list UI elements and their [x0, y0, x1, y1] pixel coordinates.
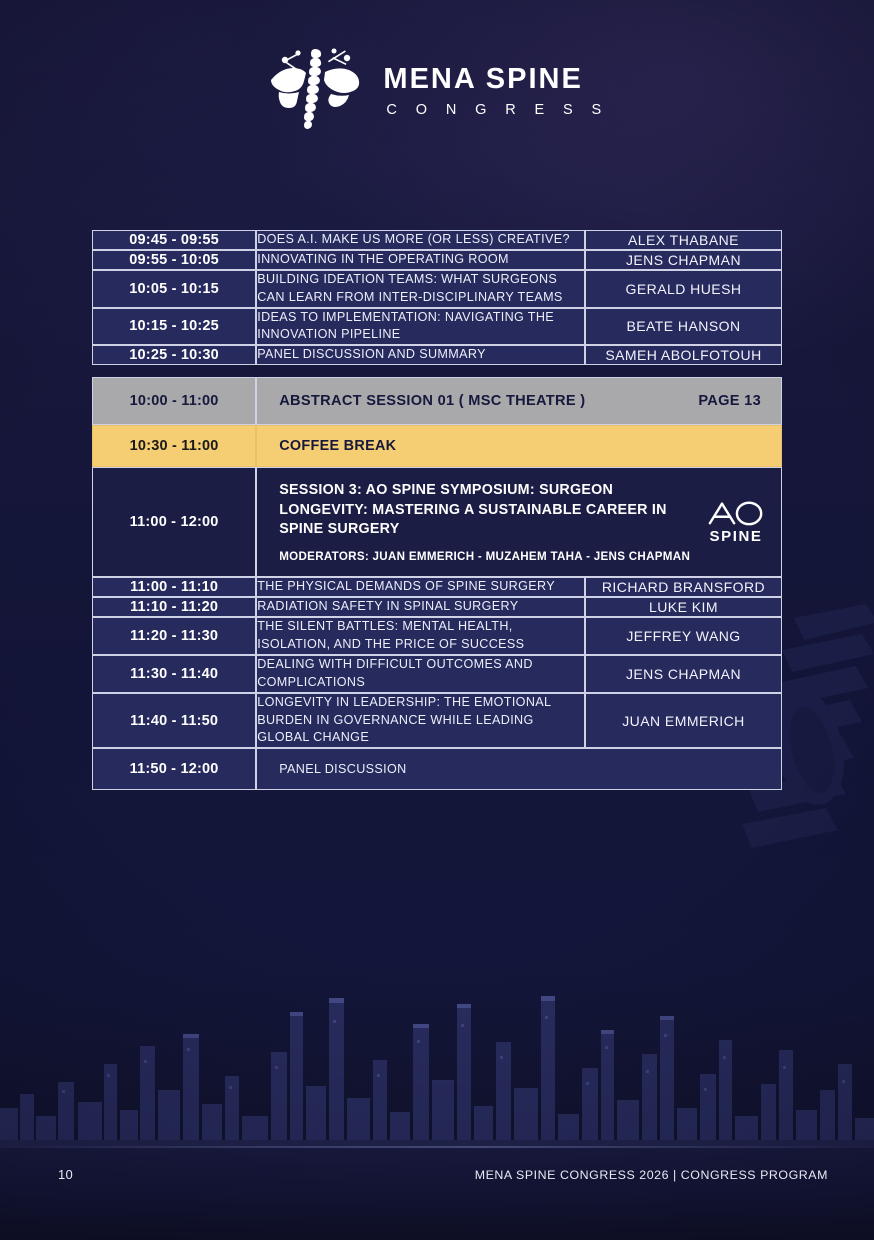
session-header-cell: SESSION 3: AO SPINE SYMPOSIUM: SURGEON L…	[256, 467, 782, 577]
row-speaker: GERALD HUESH	[585, 270, 782, 308]
abstract-session-page-ref[interactable]: PAGE 13	[698, 393, 761, 409]
row-topic: LONGEVITY IN LEADERSHIP: THE EMOTIONAL B…	[256, 693, 585, 749]
row-speaker: JUAN EMMERICH	[585, 693, 782, 749]
table-row[interactable]: 10:15 - 10:25 IDEAS TO IMPLEMENTATION: N…	[92, 308, 782, 346]
row-time: 09:45 - 09:55	[92, 230, 256, 250]
session-moderators: MODERATORS: JUAN EMMERICH - MUZAHEM TAHA…	[279, 550, 693, 563]
table-row[interactable]: 11:10 - 11:20 RADIATION SAFETY IN SPINAL…	[92, 597, 782, 617]
abstract-session-cell: ABSTRACT SESSION 01 ( MSC THEATRE ) PAGE…	[256, 377, 782, 425]
row-topic: DEALING WITH DIFFICULT OUTCOMES AND COMP…	[256, 655, 585, 693]
row-time: 10:30 - 11:00	[92, 425, 256, 467]
row-time: 11:00 - 11:10	[92, 577, 256, 597]
row-topic: INNOVATING IN THE OPERATING ROOM	[256, 250, 585, 270]
row-time: 11:30 - 11:40	[92, 655, 256, 693]
session-title: SESSION 3: AO SPINE SYMPOSIUM: SURGEON L…	[279, 481, 693, 539]
row-speaker: RICHARD BRANSFORD	[585, 577, 782, 597]
page-number: 10	[58, 1167, 73, 1182]
row-topic: THE SILENT BATTLES: MENTAL HEALTH, ISOLA…	[256, 617, 585, 655]
coffee-break-title: COFFEE BREAK	[257, 426, 781, 466]
logo-subtitle: C O N G R E S S	[386, 103, 608, 118]
table-row[interactable]: 11:50 - 12:00 PANEL DISCUSSION	[92, 748, 782, 790]
row-time: 10:15 - 10:25	[92, 308, 256, 346]
table-row[interactable]: 11:00 - 11:10 THE PHYSICAL DEMANDS OF SP…	[92, 577, 782, 597]
table-row[interactable]: 11:20 - 11:30 THE SILENT BATTLES: MENTAL…	[92, 617, 782, 655]
schedule-body: 09:45 - 09:55 DOES A.I. MAKE US MORE (OR…	[92, 230, 782, 790]
row-topic: THE PHYSICAL DEMANDS OF SPINE SURGERY	[256, 577, 585, 597]
row-speaker: SAMEH ABOLFOTOUH	[585, 345, 782, 365]
session-header-row[interactable]: 11:00 - 12:00 SESSION 3: AO SPINE SYMPOS…	[92, 467, 782, 577]
table-row[interactable]: 10:25 - 10:30 PANEL DISCUSSION AND SUMMA…	[92, 345, 782, 365]
table-row[interactable]: 10:05 - 10:15 BUILDING IDEATION TEAMS: W…	[92, 270, 782, 308]
row-topic: PANEL DISCUSSION	[257, 749, 781, 789]
table-row[interactable]: 11:40 - 11:50 LONGEVITY IN LEADERSHIP: T…	[92, 693, 782, 749]
row-time: 10:00 - 11:00	[92, 377, 256, 425]
row-speaker: ALEX THABANE	[585, 230, 782, 250]
row-speaker: JEFFREY WANG	[585, 617, 782, 655]
row-time: 10:25 - 10:30	[92, 345, 256, 365]
ao-spine-wordmark: SPINE	[703, 528, 769, 545]
logo-title: MENA SPINE	[383, 65, 608, 94]
row-topic: PANEL DISCUSSION AND SUMMARY	[256, 345, 585, 365]
row-speaker: JENS CHAPMAN	[585, 655, 782, 693]
footer-note: MENA SPINE CONGRESS 2026 | CONGRESS PROG…	[475, 1168, 828, 1182]
row-time: 11:40 - 11:50	[92, 693, 256, 749]
abstract-session-title: ABSTRACT SESSION 01 ( MSC THEATRE )	[279, 393, 585, 409]
abstract-session-row[interactable]: 10:00 - 11:00 ABSTRACT SESSION 01 ( MSC …	[92, 377, 782, 425]
row-time: 11:20 - 11:30	[92, 617, 256, 655]
row-time: 09:55 - 10:05	[92, 250, 256, 270]
table-spacer-row	[92, 365, 782, 377]
congress-logo: MENA SPINE C O N G R E S S	[0, 46, 874, 132]
table-row[interactable]: 11:30 - 11:40 DEALING WITH DIFFICULT OUT…	[92, 655, 782, 693]
schedule-table: 09:45 - 09:55 DOES A.I. MAKE US MORE (OR…	[92, 230, 782, 790]
table-gap	[92, 365, 782, 377]
mena-spine-map-icon	[265, 46, 369, 132]
coffee-break-row[interactable]: 10:30 - 11:00 COFFEE BREAK	[92, 425, 782, 467]
row-topic: IDEAS TO IMPLEMENTATION: NAVIGATING THE …	[256, 308, 585, 346]
row-time: 10:05 - 10:15	[92, 270, 256, 308]
page-footer: 10 MENA SPINE CONGRESS 2026 | CONGRESS P…	[58, 1167, 828, 1182]
table-row[interactable]: 09:55 - 10:05 INNOVATING IN THE OPERATIN…	[92, 250, 782, 270]
row-speaker: JENS CHAPMAN	[585, 250, 782, 270]
coffee-break-cell: COFFEE BREAK	[256, 425, 782, 467]
table-row[interactable]: 09:45 - 09:55 DOES A.I. MAKE US MORE (OR…	[92, 230, 782, 250]
row-time: 11:00 - 12:00	[92, 467, 256, 577]
row-speaker: BEATE HANSON	[585, 308, 782, 346]
row-topic: BUILDING IDEATION TEAMS: WHAT SURGEONS C…	[256, 270, 585, 308]
row-topic: RADIATION SAFETY IN SPINAL SURGERY	[256, 597, 585, 617]
row-time: 11:50 - 12:00	[92, 748, 256, 790]
panel-discussion-cell: PANEL DISCUSSION	[256, 748, 782, 790]
ao-spine-logo-icon: SPINE	[703, 499, 769, 545]
row-speaker: LUKE KIM	[585, 597, 782, 617]
row-time: 11:10 - 11:20	[92, 597, 256, 617]
row-topic: DOES A.I. MAKE US MORE (OR LESS) CREATIV…	[256, 230, 585, 250]
